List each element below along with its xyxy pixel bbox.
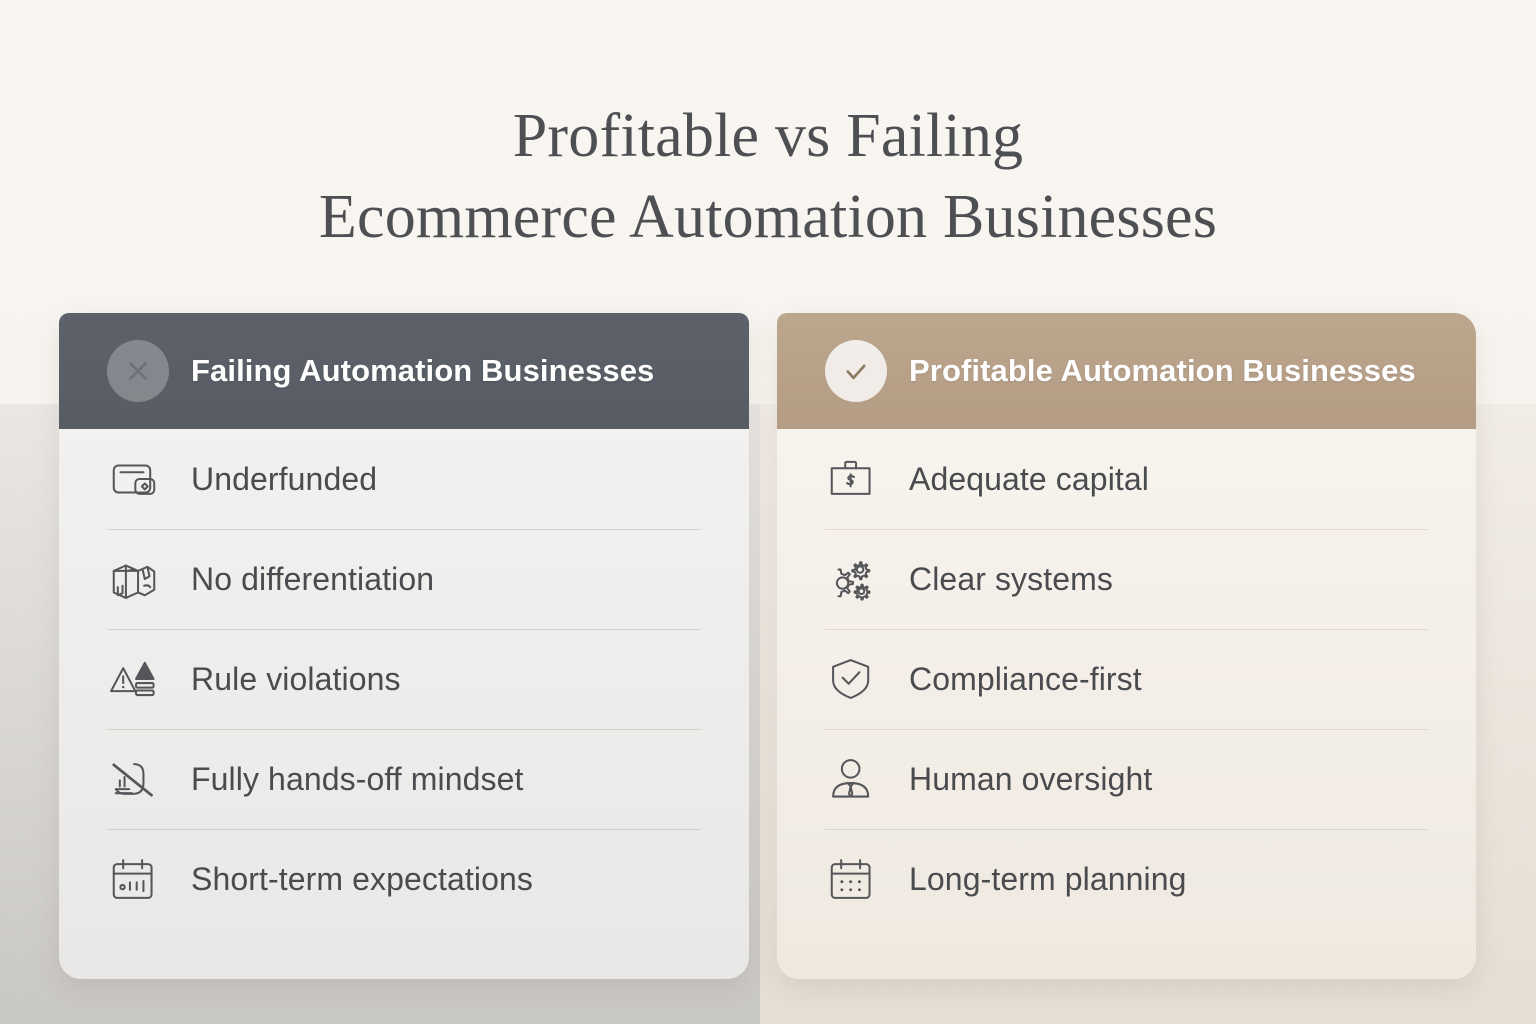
list-item: Compliance-first <box>825 629 1476 729</box>
list-item-label: Underfunded <box>177 463 377 495</box>
boxes-icon <box>107 551 177 607</box>
title-line-2: Ecommerce Automation Businesses <box>0 177 1536 258</box>
failing-card-header: Failing Automation Businesses <box>59 313 749 429</box>
list-item: Underfunded <box>107 429 749 529</box>
wallet-icon <box>107 451 177 507</box>
calendar-dots-icon <box>825 851 895 907</box>
profitable-card-header: Profitable Automation Businesses <box>777 313 1476 429</box>
profitable-businesses-card: Profitable Automation Businesses Adequat… <box>777 313 1476 979</box>
list-item: Clear systems <box>825 529 1476 629</box>
list-item: Human oversight <box>825 729 1476 829</box>
shield-check-icon <box>825 651 895 707</box>
page-title: Profitable vs Failing Ecommerce Automati… <box>0 96 1536 257</box>
list-item-label: No differentiation <box>177 563 434 595</box>
list-item-label: Clear systems <box>895 563 1113 595</box>
briefcase-dollar-icon <box>825 451 895 507</box>
failing-card-list: Underfunded No differentiation <box>59 429 749 979</box>
list-item-label: Rule violations <box>177 663 401 695</box>
list-item-label: Short-term expectations <box>177 863 533 895</box>
warning-triangle-icon <box>107 651 177 707</box>
list-item-label: Fully hands-off mindset <box>177 763 524 795</box>
list-item: Long-term planning <box>825 829 1476 929</box>
profitable-card-title: Profitable Automation Businesses <box>909 353 1416 389</box>
gears-icon <box>825 551 895 607</box>
list-item-label: Human oversight <box>895 763 1152 795</box>
check-icon <box>825 340 887 402</box>
hand-slash-icon <box>107 751 177 807</box>
failing-card-title: Failing Automation Businesses <box>191 353 654 389</box>
person-tie-icon <box>825 751 895 807</box>
list-item-label: Long-term planning <box>895 863 1187 895</box>
list-item: No differentiation <box>107 529 749 629</box>
title-line-1: Profitable vs Failing <box>0 96 1536 177</box>
close-x-icon <box>107 340 169 402</box>
failing-businesses-card: Failing Automation Businesses Underfunde… <box>59 313 749 979</box>
list-item-label: Compliance-first <box>895 663 1142 695</box>
list-item-label: Adequate capital <box>895 463 1149 495</box>
list-item: Short-term expectations <box>107 829 749 929</box>
list-item: Adequate capital <box>825 429 1476 529</box>
list-item: Fully hands-off mindset <box>107 729 749 829</box>
list-item: Rule violations <box>107 629 749 729</box>
calendar-short-icon <box>107 851 177 907</box>
profitable-card-list: Adequate capital Clear systems <box>777 429 1476 979</box>
